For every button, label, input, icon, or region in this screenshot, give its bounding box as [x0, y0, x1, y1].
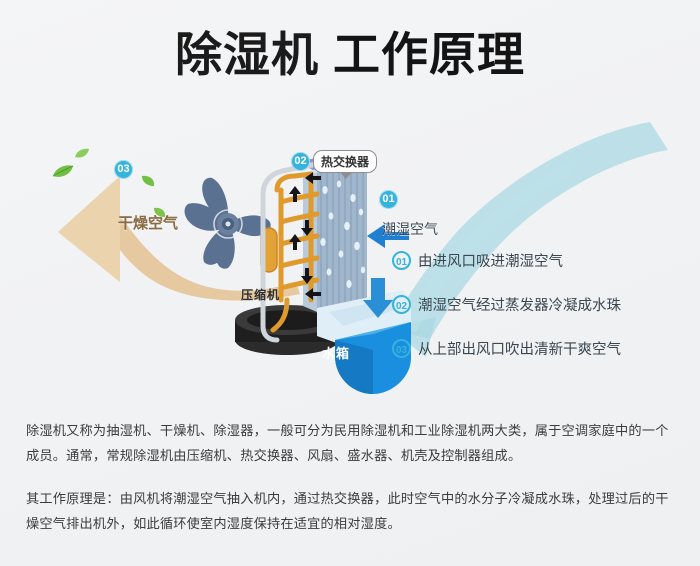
compressor-label: 压缩机: [241, 286, 280, 303]
legend-list: 01 由进风口吸进潮湿空气 02 潮湿空气经过蒸发器冷凝成水珠 03 从上部出风…: [392, 250, 692, 382]
leaf-icon: [74, 148, 90, 160]
legend-badge: 02: [392, 295, 411, 314]
legend-item: 02 潮湿空气经过蒸发器冷凝成水珠: [392, 294, 692, 315]
legend-label: 潮湿空气经过蒸发器冷凝成水珠: [418, 294, 621, 315]
badge-number: 03: [114, 160, 133, 179]
badge-number: 01: [379, 190, 398, 209]
badge-03-dry-air: 03: [114, 160, 133, 179]
leaf-icon: [52, 164, 74, 180]
badge-02-heat-exchanger: 02: [291, 152, 310, 171]
dry-air-label: 干燥空气: [118, 212, 178, 233]
heat-exchanger-callout: 热交换器: [313, 150, 377, 173]
paragraph-1: 除湿机又称为抽湿机、干燥机、除湿器，一般可分为民用除湿机和工业除湿机两大类，属于…: [26, 418, 681, 468]
legend-badge: 03: [392, 339, 411, 358]
paragraph-2: 其工作原理是：由风机将潮湿空气抽入机内，通过热交换器，此时空气中的水分子冷凝成水…: [26, 486, 681, 536]
title-part-1: 除湿机: [175, 28, 319, 81]
humid-air-label: 潮湿空气: [382, 219, 438, 239]
title-text: 除湿机工作原理: [175, 28, 525, 82]
badge-01-humid-air: 01: [379, 190, 398, 209]
legend-label: 从上部出风口吹出清新干爽空气: [418, 338, 621, 359]
badge-number: 02: [291, 152, 310, 171]
leaf-icon: [140, 174, 156, 188]
legend-label: 由进风口吸进潮湿空气: [418, 250, 563, 271]
legend-item: 01 由进风口吸进潮湿空气: [392, 250, 692, 271]
water-tank-label: 水箱: [322, 343, 350, 362]
infographic-page: 除湿机工作原理: [0, 0, 700, 566]
page-title: 除湿机工作原理: [0, 28, 700, 82]
body-copy: 除湿机又称为抽湿机、干燥机、除湿器，一般可分为民用除湿机和工业除湿机两大类，属于…: [26, 418, 681, 554]
title-part-2: 工作原理: [333, 28, 525, 81]
legend-badge: 01: [392, 251, 411, 270]
legend-item: 03 从上部出风口吹出清新干爽空气: [392, 338, 692, 359]
